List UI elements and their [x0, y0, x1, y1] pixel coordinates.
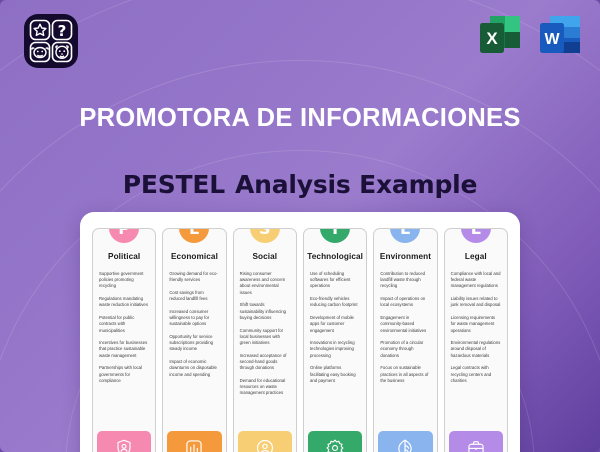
column-title: Economical: [163, 252, 225, 261]
poster-canvas: ?: [0, 0, 600, 452]
point-item: Opportunity for service subscriptions pr…: [169, 334, 219, 353]
column-letter-badge: E: [390, 228, 420, 243]
point-item: Community support for local businesses w…: [240, 328, 290, 347]
pestel-column-social[interactable]: SSocialRising consumer awareness and con…: [233, 228, 297, 452]
point-item: Use of scheduling softwares for efficien…: [310, 271, 360, 290]
point-item: Regulations mandating waste reduction in…: [99, 296, 149, 308]
point-item: Eco-friendly vehicles reducing carbon fo…: [310, 296, 360, 308]
point-item: Growing demand for eco-friendly services: [169, 271, 219, 283]
point-item: Potential for public contracts with muni…: [99, 315, 149, 334]
point-item: Increased consumer willingness to pay fo…: [169, 309, 219, 328]
pestel-column-legal[interactable]: LLegalCompliance with local and federal …: [444, 228, 508, 452]
point-item: Engagement in community-based environmen…: [380, 315, 430, 334]
column-title: Environment: [374, 252, 436, 261]
column-points: Rising consumer awareness and concern ab…: [234, 271, 296, 427]
page-title: PROMOTORA DE INFORMACIONES: [0, 104, 600, 133]
bar-chart-icon: [167, 431, 221, 452]
column-points: Growing demand for eco-friendly services…: [163, 271, 225, 427]
column-points: Use of scheduling softwares for efficien…: [304, 271, 366, 427]
gear-icon: [308, 431, 362, 452]
leaf-icon: [378, 431, 432, 452]
word-icon[interactable]: W: [536, 12, 584, 64]
point-item: Supportive government policies promoting…: [99, 271, 149, 290]
pestel-column-political[interactable]: PPoliticalSupportive government policies…: [92, 228, 156, 452]
svg-text:?: ?: [58, 22, 67, 40]
pestel-column-technological[interactable]: TTechnologicalUse of scheduling software…: [303, 228, 367, 452]
column-title: Social: [234, 252, 296, 261]
point-item: Increased acceptance of second-hand good…: [240, 353, 290, 372]
column-title: Legal: [445, 252, 507, 261]
point-item: Environmental regulations around disposa…: [451, 340, 501, 359]
excel-icon[interactable]: X: [476, 12, 524, 64]
column-letter-badge: T: [320, 228, 350, 243]
point-item: Development of mobile apps for customer …: [310, 315, 360, 334]
svg-text:X: X: [486, 29, 498, 48]
shield-person-icon: [97, 431, 151, 452]
column-points: Contribution to reduced landfill waste t…: [374, 271, 436, 427]
svg-text:W: W: [544, 31, 560, 48]
column-title: Technological: [304, 252, 366, 261]
briefcase-icon: [449, 431, 503, 452]
column-letter-badge: S: [250, 228, 280, 243]
page-subtitle: PESTELAnalysis Example: [0, 170, 600, 199]
point-item: Licensing requirements for waste managem…: [451, 315, 501, 334]
pestel-card: PPoliticalSupportive government policies…: [80, 212, 520, 452]
app-grid-logo[interactable]: ?: [22, 12, 80, 70]
point-item: Impact of economic downturns on disposab…: [169, 359, 219, 378]
column-letter-badge: E: [179, 228, 209, 243]
point-item: Innovations in recycling technologies im…: [310, 340, 360, 359]
column-letter-badge: L: [461, 228, 491, 243]
point-item: Compliance with local and federal waste …: [451, 271, 501, 290]
subtitle-acronym: PESTEL: [123, 170, 225, 199]
point-item: Cost savings from reduced landfill fees: [169, 290, 219, 302]
person-circle-icon: [238, 431, 292, 452]
point-item: Partnerships with local governments for …: [99, 365, 149, 384]
point-item: Demand for educational resources on wast…: [240, 378, 290, 397]
column-title: Political: [93, 252, 155, 261]
point-item: Liability issues related to junk removal…: [451, 296, 501, 308]
subtitle-rest: Analysis Example: [235, 170, 477, 199]
pestel-column-environment[interactable]: EEnvironmentContribution to reduced land…: [373, 228, 437, 452]
point-item: Shift towards sustainability influencing…: [240, 302, 290, 321]
point-item: Contribution to reduced landfill waste t…: [380, 271, 430, 290]
pestel-columns: PPoliticalSupportive government policies…: [90, 228, 510, 452]
column-points: Supportive government policies promoting…: [93, 271, 155, 427]
column-letter-badge: P: [109, 228, 139, 243]
office-app-icons: X W: [476, 12, 584, 64]
point-item: Rising consumer awareness and concern ab…: [240, 271, 290, 296]
column-points: Compliance with local and federal waste …: [445, 271, 507, 427]
point-item: Focus on sustainable practices in all as…: [380, 365, 430, 384]
point-item: Online platforms facilitating easy booki…: [310, 365, 360, 384]
pestel-column-economical[interactable]: EEconomicalGrowing demand for eco-friend…: [162, 228, 226, 452]
point-item: Impact of operations on local ecosystems: [380, 296, 430, 308]
point-item: Incentives for businesses that practice …: [99, 340, 149, 359]
point-item: Legal contracts with recycling centers a…: [451, 365, 501, 384]
point-item: Promotion of a circular economy through …: [380, 340, 430, 359]
